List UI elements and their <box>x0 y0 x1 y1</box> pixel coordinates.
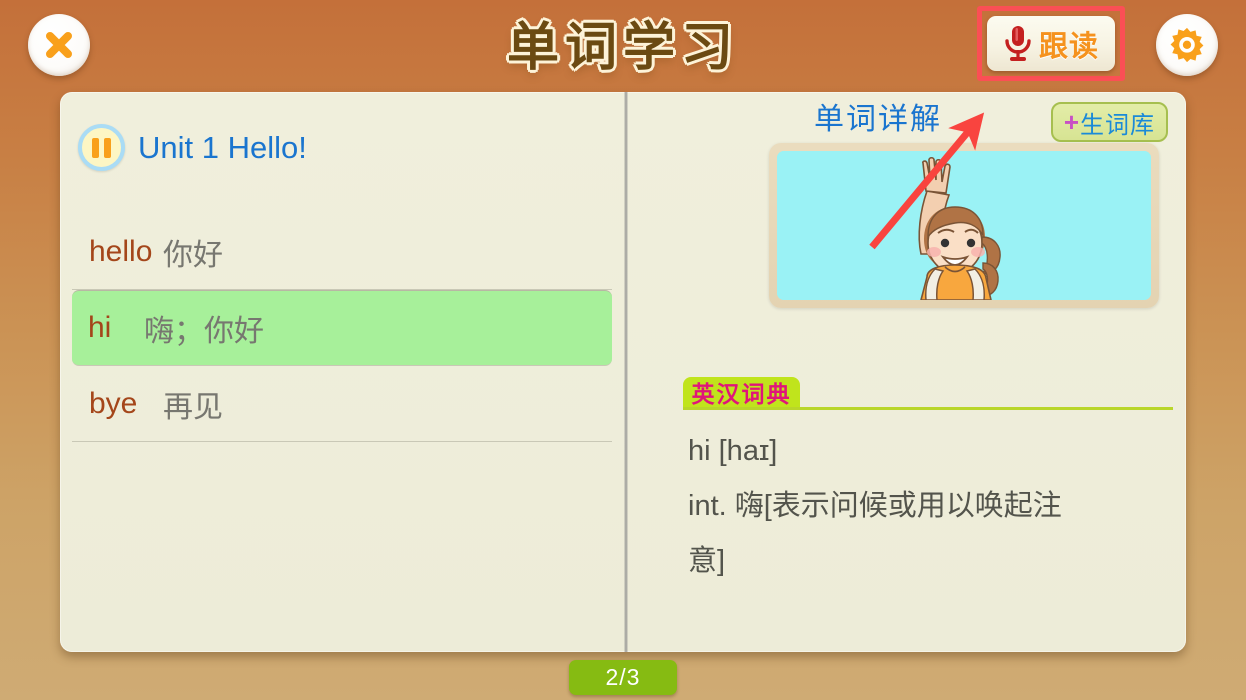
word-list: hello 你好 hi 嗨；你好 bye 再见 <box>72 214 612 442</box>
word-illustration-frame <box>769 143 1159 308</box>
tab-english-chinese-dictionary[interactable]: 英汉词典 <box>683 377 800 407</box>
word-english: hi <box>88 311 144 345</box>
dictionary-tab-underline <box>683 407 1173 410</box>
word-chinese: 再见 <box>163 382 223 426</box>
dictionary-entry: hi [haɪ] int. 嗨[表示问候或用以唤起注 意] <box>688 424 1128 589</box>
word-chinese: 你好 <box>163 230 223 274</box>
dictionary-tab-bar: 英汉词典 <box>683 377 1173 411</box>
word-row[interactable]: bye 再见 <box>72 366 612 442</box>
unit-header[interactable]: Unit 1 Hello! <box>78 124 307 171</box>
pause-icon[interactable] <box>78 124 125 171</box>
girl-waving-illustration <box>777 151 1151 300</box>
pause-bar-left <box>92 138 99 158</box>
page-indicator[interactable]: 2/3 <box>569 660 677 695</box>
word-row[interactable]: hi 嗨；你好 <box>72 290 612 366</box>
left-page: Unit 1 Hello! hello 你好 hi 嗨；你好 bye 再见 <box>60 92 624 652</box>
pause-bar-right <box>104 138 111 158</box>
dictionary-tab-label: 英汉词典 <box>692 375 792 409</box>
right-page: 单词详解 + 生词库 <box>628 92 1186 652</box>
follow-read-label: 跟读 <box>1039 23 1099 65</box>
dictionary-definition-line-2: 意] <box>688 534 1128 589</box>
book-container: Unit 1 Hello! hello 你好 hi 嗨；你好 bye 再见 单词… <box>60 92 1186 652</box>
word-chinese: 嗨；你好 <box>144 306 264 350</box>
close-x-icon <box>42 28 76 62</box>
follow-read-button[interactable]: 跟读 <box>987 16 1115 71</box>
page-indicator-label: 2/3 <box>606 664 641 691</box>
add-to-vocabulary-button[interactable]: + 生词库 <box>1051 102 1168 142</box>
close-button[interactable] <box>28 14 90 76</box>
plus-icon: + <box>1064 109 1079 135</box>
add-vocab-label: 生词库 <box>1080 105 1155 140</box>
top-bar: 单词学习 跟读 <box>0 0 1246 90</box>
unit-title: Unit 1 Hello! <box>138 130 307 166</box>
dictionary-headword: hi [haɪ] <box>688 424 1128 479</box>
settings-button[interactable] <box>1156 14 1218 76</box>
word-english: bye <box>89 387 163 421</box>
word-illustration <box>777 151 1151 300</box>
microphone-icon <box>1003 24 1033 64</box>
word-english: hello <box>89 235 163 269</box>
word-row[interactable]: hello 你好 <box>72 214 612 290</box>
dictionary-definition-line-1: int. 嗨[表示问候或用以唤起注 <box>688 479 1128 534</box>
gear-icon <box>1168 26 1206 64</box>
